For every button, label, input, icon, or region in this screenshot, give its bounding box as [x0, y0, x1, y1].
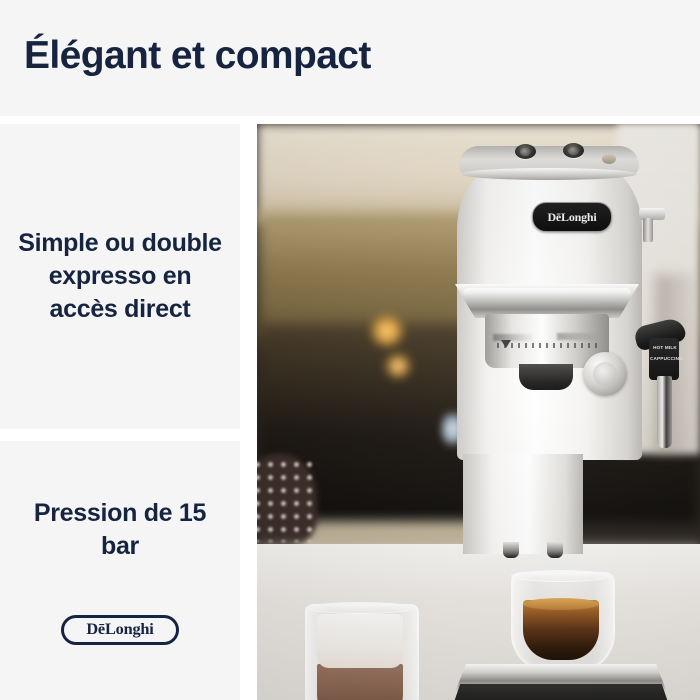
product-feature-page: Élégant et compact Simple ou double expr… — [0, 0, 700, 700]
bokeh-light-icon — [385, 354, 411, 378]
feature-card-pressure: Pression de 15 bar DēLonghi — [0, 441, 240, 700]
single-shot-button-inner — [520, 148, 531, 156]
portafilter-label-right — [557, 333, 599, 340]
product-photo: DēLonghi HOT MILK CAPPUCCINO — [257, 124, 700, 700]
coffee-outlet-right — [547, 542, 563, 558]
steam-wand-label-hot-milk: HOT MILK — [651, 345, 679, 350]
feature-card-expresso-text: Simple ou double expresso en accès direc… — [0, 227, 240, 326]
header-band: Élégant et compact — [0, 0, 700, 116]
portafilter-scale-marks — [497, 343, 597, 348]
machine-brand-badge-text: DēLonghi — [547, 210, 596, 225]
machine-base — [441, 684, 681, 700]
machine-lower-column — [463, 454, 583, 554]
latte-milk-foam — [317, 614, 403, 668]
espresso-glass-rim — [511, 570, 611, 582]
polka-dot-pattern — [257, 458, 313, 542]
chrome-selector-knob-inner — [593, 362, 617, 386]
portafilter-label-left — [493, 334, 535, 341]
portafilter-spouts — [519, 364, 573, 390]
latte-liquid — [317, 664, 403, 700]
delonghi-logo-text: DēLonghi — [86, 621, 153, 639]
group-head-highlight — [463, 288, 631, 297]
page-title: Élégant et compact — [24, 30, 371, 82]
steam-wand-tube — [657, 376, 672, 448]
machine-brand-badge: DēLonghi — [532, 202, 612, 232]
espresso-crema — [523, 598, 599, 610]
steam-wand-label-cappuccino: CAPPUCCINO — [650, 356, 680, 361]
latte-glass-rim — [305, 602, 415, 614]
steam-knob-icon — [602, 154, 616, 164]
machine-top-chrome-edge — [461, 168, 637, 180]
feature-card-pressure-stack: Pression de 15 bar DēLonghi — [0, 441, 240, 700]
coffee-outlet-left — [503, 542, 519, 558]
double-shot-button-inner — [568, 147, 579, 155]
feature-card-pressure-text: Pression de 15 bar — [0, 497, 240, 563]
side-lever-stem — [643, 218, 653, 242]
bokeh-light-icon — [369, 316, 405, 346]
portafilter-arrow-icon — [501, 340, 511, 348]
delonghi-logo-icon: DēLonghi — [61, 615, 179, 645]
feature-card-expresso: Simple ou double expresso en accès direc… — [0, 124, 240, 429]
